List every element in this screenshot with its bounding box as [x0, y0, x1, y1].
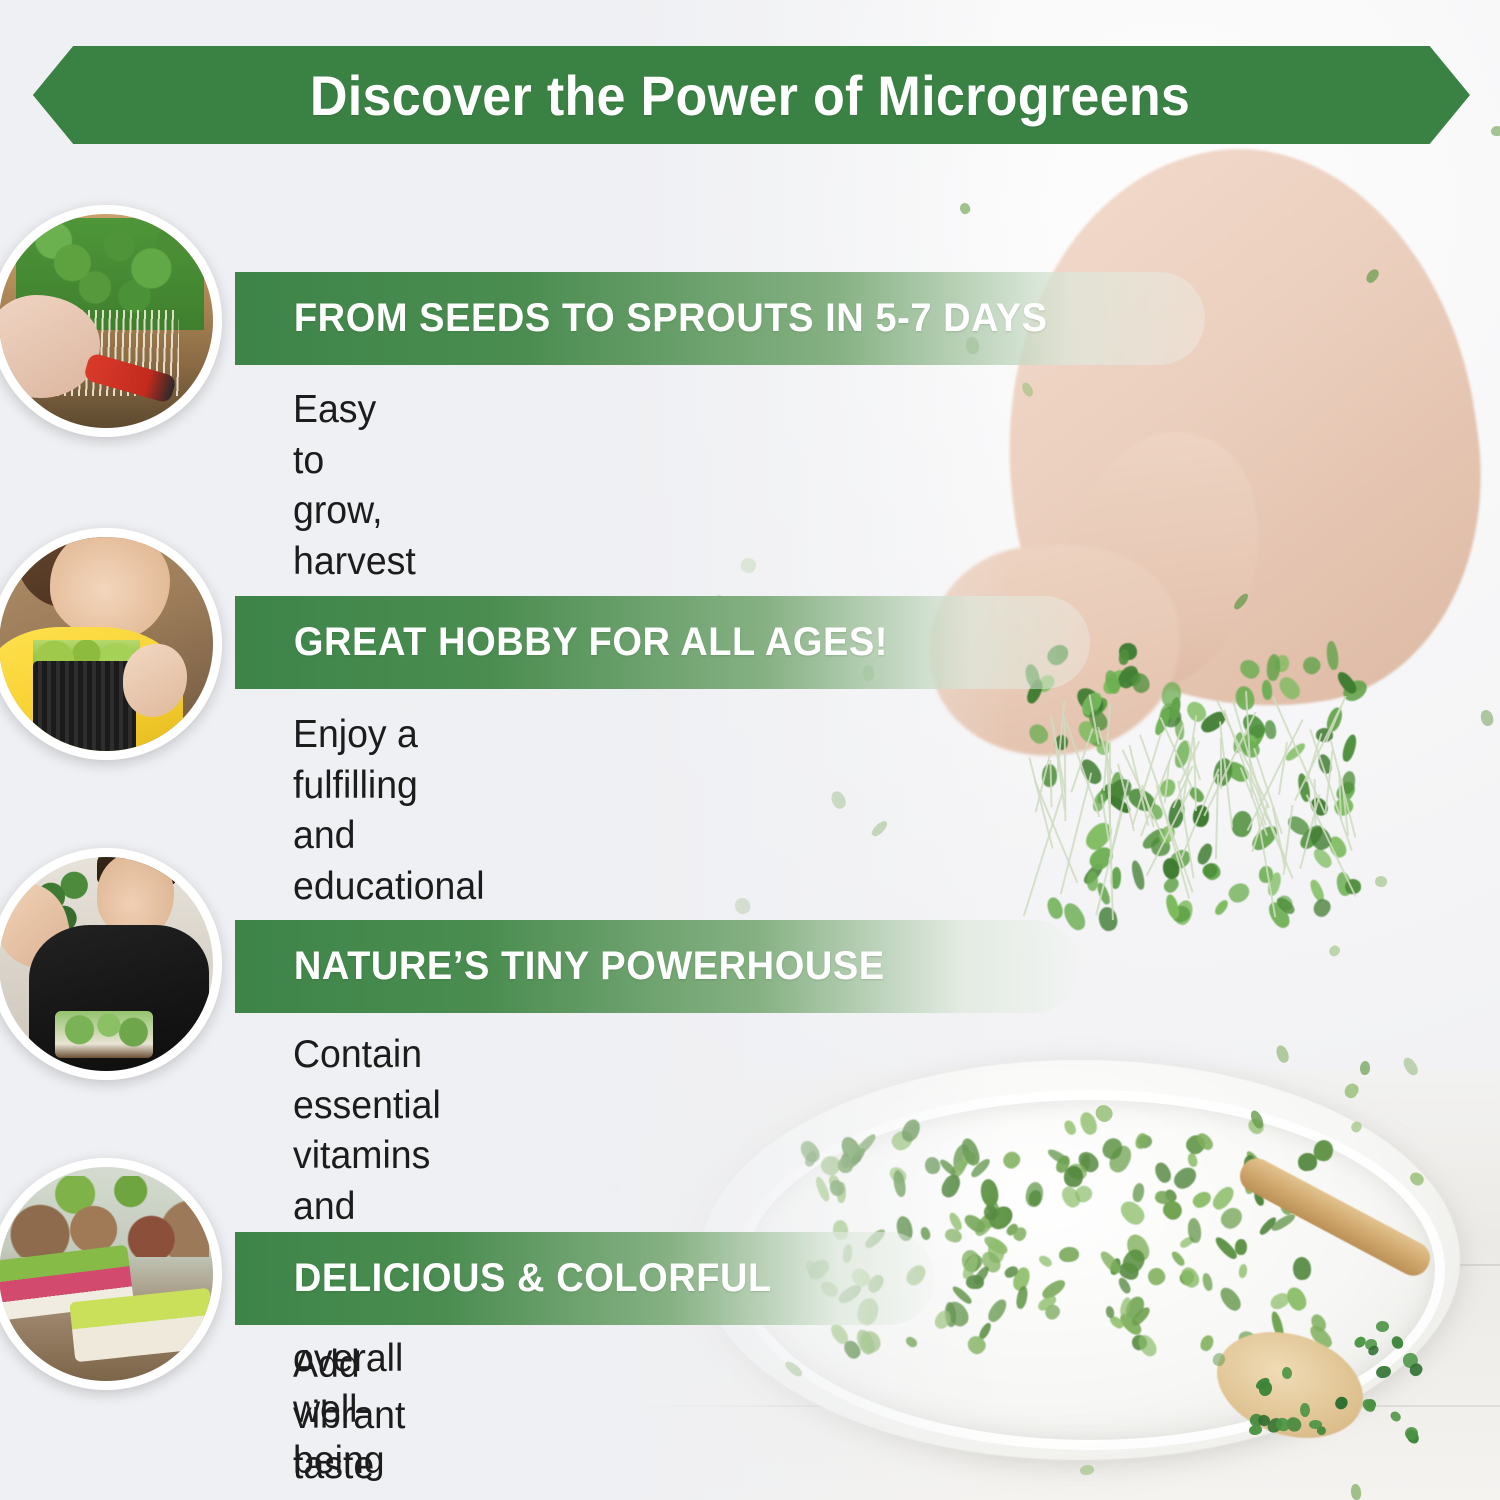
feature-heading-4: DELICIOUS & COLORFUL	[235, 1256, 772, 1301]
feature-bar-2: GREAT HOBBY FOR ALL AGES!	[235, 596, 1090, 689]
feature-thumbnail-2	[0, 528, 222, 760]
thumbnail-image-1	[0, 214, 213, 428]
thumbnail-image-3	[0, 857, 213, 1071]
header-banner: Discover the Power of Microgreens	[30, 46, 1470, 144]
black-tray	[33, 661, 136, 755]
microgreens-stems	[1030, 690, 1350, 910]
spoon-microgreens	[1240, 1320, 1420, 1430]
feature-heading-1: FROM SEEDS TO SPROUTS IN 5-7 DAYS	[235, 296, 1048, 341]
thumbnail-image-4	[0, 1167, 213, 1381]
feature-bar-4: DELICIOUS & COLORFUL	[235, 1232, 935, 1325]
thumbnail-image-2	[0, 537, 213, 751]
feature-bar-1: FROM SEEDS TO SPROUTS IN 5-7 DAYS	[235, 272, 1205, 365]
feature-heading-2: GREAT HOBBY FOR ALL AGES!	[235, 620, 888, 665]
feature-bar-3: NATURE’S TINY POWERHOUSE	[235, 920, 1080, 1013]
feature-subtext-4: Add vibrant taste and color to your meal…	[293, 1340, 405, 1500]
girl-face	[50, 528, 170, 639]
page-title: Discover the Power of Microgreens	[80, 46, 1419, 144]
infographic-page: Discover the Power of Microgreens FROM S…	[0, 0, 1500, 1500]
potted-plants	[3, 1176, 208, 1257]
feature-thumbnail-4	[0, 1158, 222, 1390]
yellow-green-microgreens-tray	[69, 1288, 216, 1362]
feature-heading-3: NATURE’S TINY POWERHOUSE	[235, 944, 885, 989]
feature-thumbnail-1	[0, 205, 222, 437]
held-microgreens	[55, 1011, 153, 1058]
feature-thumbnail-3	[0, 848, 222, 1080]
